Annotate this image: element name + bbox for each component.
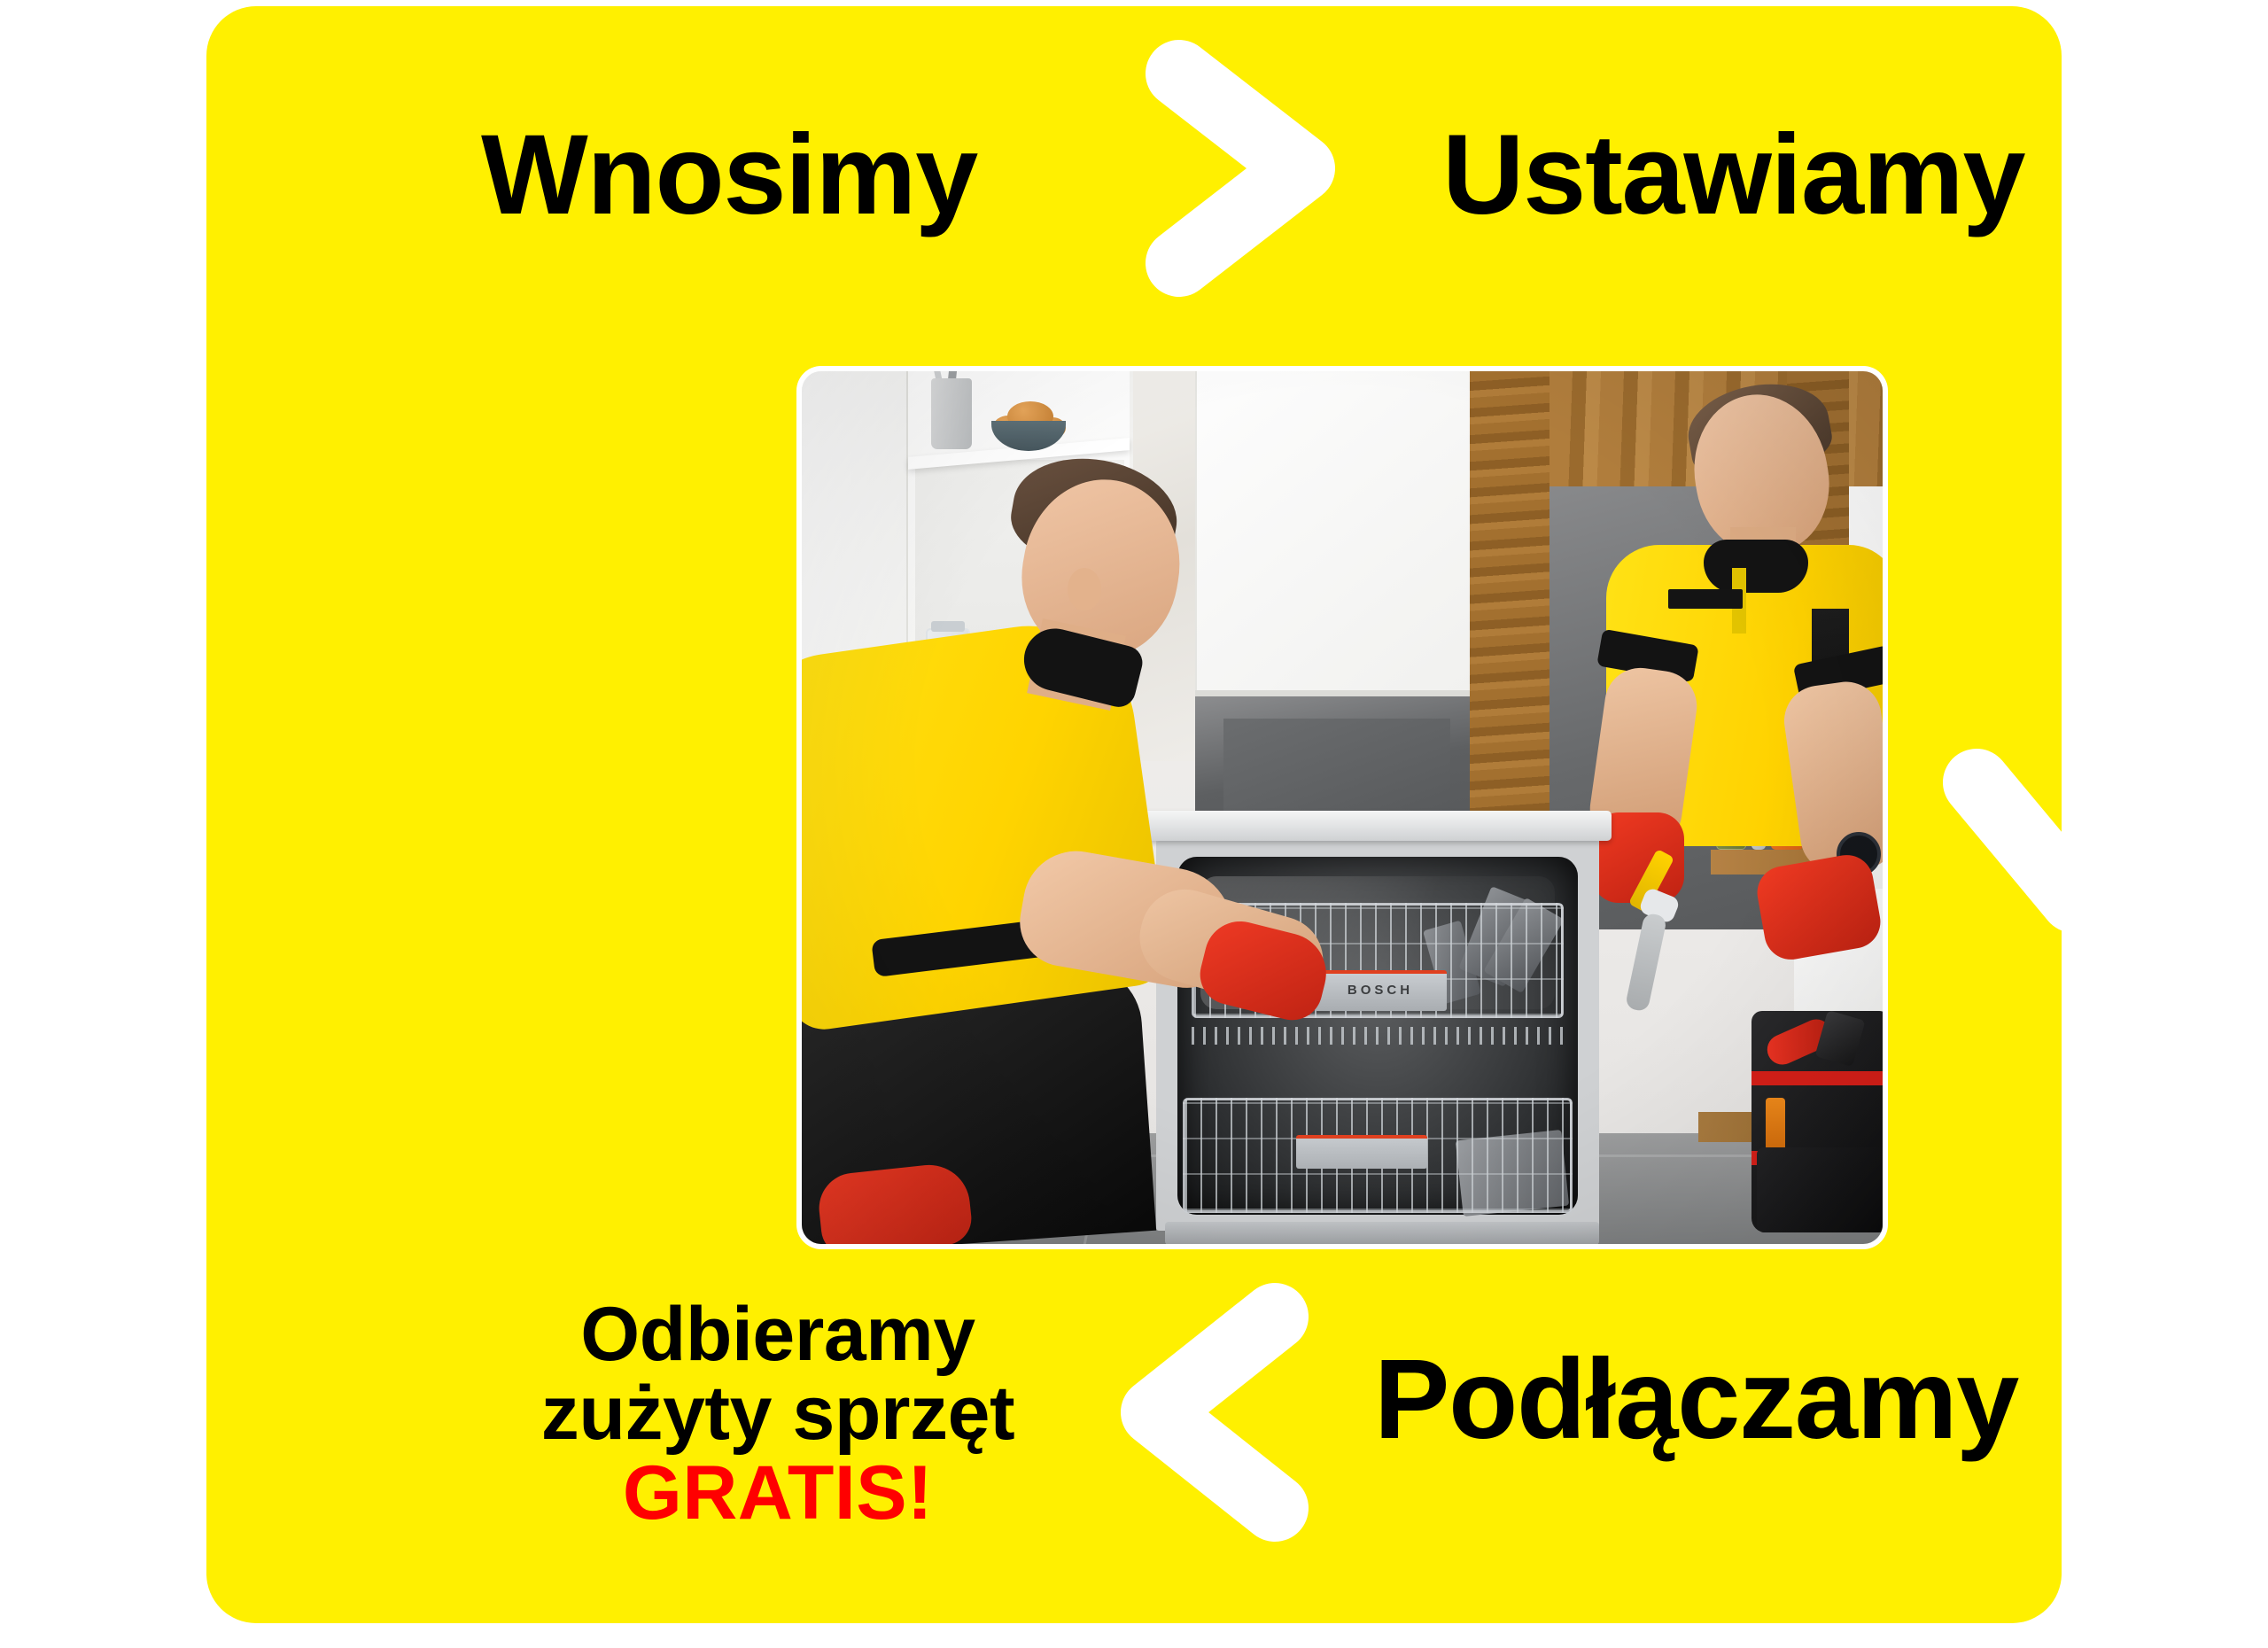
front-technician-ear <box>1068 568 1101 610</box>
dishwasher-open-door <box>1165 1222 1599 1244</box>
back-technician-collar <box>1704 540 1808 593</box>
tool-bag-pocket <box>1757 1147 1883 1232</box>
chevron-down-icon <box>1941 747 2207 937</box>
promo-banner-card: Wnosimy Ustawiamy OL <box>206 6 2062 1623</box>
dishwasher-lower-badge <box>1296 1135 1427 1169</box>
odbieramy-line-1: Odbieramy <box>481 1295 1075 1374</box>
utensil-holder <box>931 378 972 449</box>
odbieramy-line-2: zużyty sprzęt <box>481 1374 1075 1453</box>
step-label-wnosimy: Wnosimy <box>481 120 977 230</box>
step-label-podlaczamy: Podłączamy <box>1374 1344 2018 1455</box>
step-label-ustawiamy: Ustawiamy <box>1442 120 2024 230</box>
tool-bag-tool-orange <box>1766 1098 1785 1153</box>
tool-bag-strap <box>1751 1071 1883 1085</box>
step-label-odbieramy: Odbieramy zużyty sprzęt GRATIS! <box>481 1295 1075 1533</box>
dishwasher-cutlery-tray <box>1192 1027 1564 1045</box>
gratis-badge: GRATIS! <box>481 1454 1075 1533</box>
dishwasher-door-top <box>1144 811 1612 841</box>
chevron-right-icon <box>1146 40 1336 297</box>
installation-photo: OLEJ <box>802 371 1883 1244</box>
polo-logo-badge <box>1668 589 1743 609</box>
chevron-left-icon <box>1119 1279 1309 1545</box>
jar-lid <box>931 621 965 632</box>
dishwasher-brand-text: BOSCH <box>1314 983 1447 998</box>
upper-cabinet <box>1195 371 1470 690</box>
